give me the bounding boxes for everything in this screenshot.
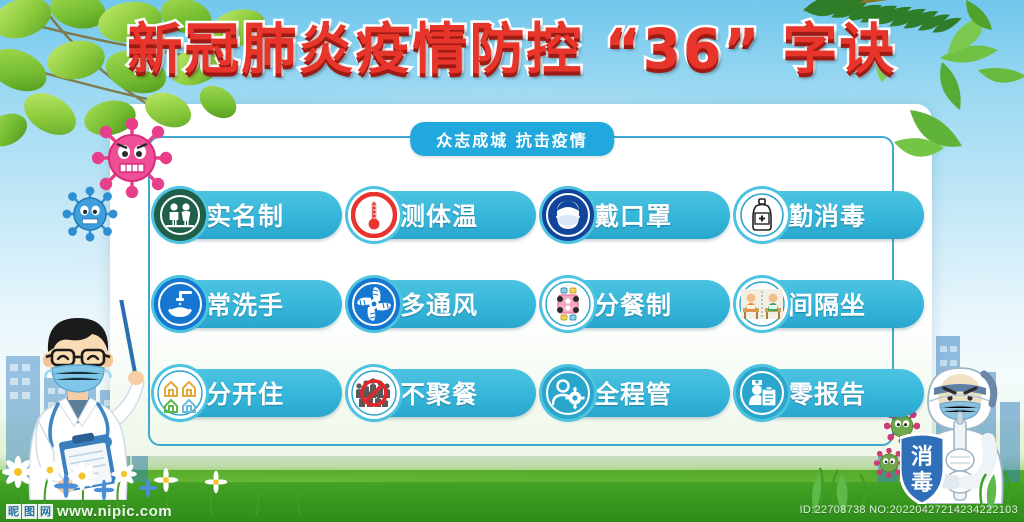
subtitle-ribbon: 众志成城 抗击疫情 [410, 122, 614, 156]
poster-title-wrap: 新冠肺炎疫情防控 “36” 字诀 [0, 18, 1024, 80]
watermark-logo-char-2: 图 [22, 504, 37, 519]
measure-item-wash-hands[interactable]: 常洗手 [156, 280, 342, 328]
watermark-url: www.nipic.com [57, 503, 172, 520]
poster-title: 新冠肺炎疫情防控 “36” 字诀 [127, 18, 896, 80]
four-houses-icon [154, 367, 206, 419]
two-people-icon [154, 189, 206, 241]
measure-item-no-gathering[interactable]: 不聚餐 [350, 369, 536, 417]
thermometer-icon [348, 189, 400, 241]
measure-item-zero-report[interactable]: 零报告 [738, 369, 924, 417]
measure-label: 实名制 [206, 197, 284, 233]
measure-item-real-name[interactable]: 实名制 [156, 191, 342, 239]
measure-label: 零报告 [788, 375, 866, 411]
measure-item-disinfect[interactable]: 勤消毒 [738, 191, 924, 239]
measure-label: 分餐制 [594, 286, 672, 322]
watermark: 昵 图 网 www.nipic.com [6, 503, 172, 520]
poster-canvas: 新冠肺炎疫情防控 “36” 字诀 众志成城 抗击疫情 [0, 0, 1024, 522]
measure-label: 多通风 [400, 286, 478, 322]
measure-item-spaced-seating[interactable]: 间隔坐 [738, 280, 924, 328]
separate-dining-icon [542, 278, 594, 330]
measure-item-wear-mask[interactable]: 戴口罩 [544, 191, 730, 239]
measure-item-separate-dining[interactable]: 分餐制 [544, 280, 730, 328]
measure-label: 全程管 [594, 375, 672, 411]
measure-label: 测体温 [400, 197, 478, 233]
nurse-report-icon [736, 367, 788, 419]
fan-icon [348, 278, 400, 330]
watermark-id-code: ID:22708738 NO:20220427214234222103 [800, 504, 1018, 516]
wash-hands-icon [154, 278, 206, 330]
measure-item-ventilate[interactable]: 多通风 [350, 280, 536, 328]
measure-label: 常洗手 [206, 286, 284, 322]
measure-label: 戴口罩 [594, 197, 672, 233]
measure-label: 不聚餐 [400, 375, 478, 411]
measures-grid: 实名制 测体温 [156, 180, 886, 428]
face-mask-icon [542, 189, 594, 241]
sanitizer-bottle-icon [736, 189, 788, 241]
watermark-logo: 昵 图 网 [6, 504, 53, 519]
spaced-seating-icon [736, 278, 788, 330]
measure-item-full-management[interactable]: 全程管 [544, 369, 730, 417]
person-gear-icon [542, 367, 594, 419]
no-gathering-icon [348, 367, 400, 419]
watermark-logo-char-1: 昵 [6, 504, 21, 519]
measure-label: 勤消毒 [788, 197, 866, 233]
virus-blue-icon [62, 186, 118, 242]
measure-item-live-apart[interactable]: 分开住 [156, 369, 342, 417]
watermark-logo-char-3: 网 [38, 504, 53, 519]
measure-label: 分开住 [206, 375, 284, 411]
measure-label: 间隔坐 [788, 286, 866, 322]
measure-item-temperature[interactable]: 测体温 [350, 191, 536, 239]
